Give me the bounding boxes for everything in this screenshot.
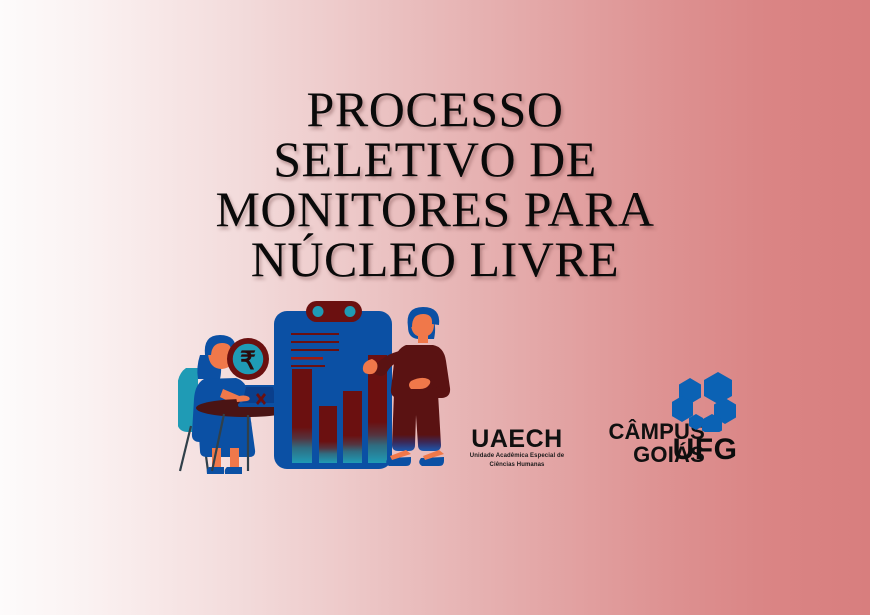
rupee-coin-icon: ₹ <box>227 338 269 380</box>
ufg-hexagon-icon <box>672 370 738 432</box>
clipboard-with-bar-chart <box>274 301 392 469</box>
poster-canvas: PROCESSO SELETIVO DE MONITORES PARA NÚCL… <box>0 0 870 615</box>
logo-uaech: UAECH Unidade Acadêmica Especial de Ciên… <box>463 426 571 469</box>
data-analysis-illustration: ₹ <box>178 293 470 475</box>
ufg-wordmark: UFG <box>660 434 750 465</box>
page-title: PROCESSO SELETIVO DE MONITORES PARA NÚCL… <box>0 84 870 284</box>
svg-text:₹: ₹ <box>240 348 256 375</box>
logo-ufg: UFG <box>660 370 750 465</box>
uaech-wordmark: UAECH <box>463 426 571 452</box>
uaech-subtitle-line-1: Unidade Acadêmica Especial de <box>463 453 571 461</box>
title-line-1: PROCESSO <box>0 84 870 134</box>
title-line-2: SELETIVO DE <box>0 134 870 184</box>
clipboard-clip <box>306 301 362 322</box>
title-line-4: NÚCLEO LIVRE <box>0 234 870 284</box>
logo-row: UAECH Unidade Acadêmica Especial de Ciên… <box>455 370 755 480</box>
uaech-subtitle-line-2: Ciências Humanas <box>463 462 571 470</box>
title-line-3: MONITORES PARA <box>0 184 870 234</box>
